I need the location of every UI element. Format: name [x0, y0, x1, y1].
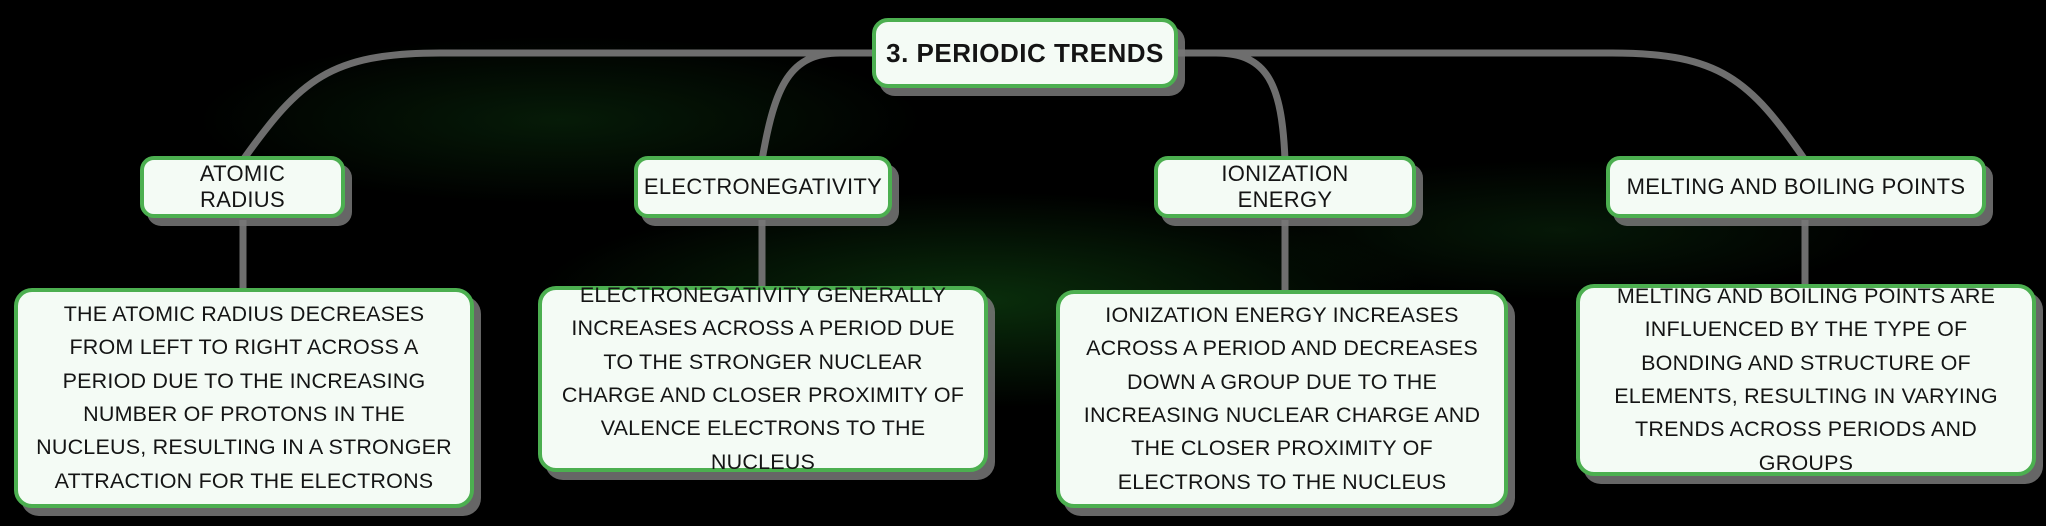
node-branch-atomic-radius-label: ATOMIC RADIUS — [144, 161, 341, 213]
mindmap-canvas: 3. PERIODIC TRENDS ATOMIC RADIUS ELECTRO… — [0, 0, 2046, 526]
node-branch-melting-boiling-points[interactable]: MELTING AND BOILING POINTS — [1606, 156, 1986, 218]
node-description-melting-boiling-points-text: MELTING AND BOILING POINTS ARE INFLUENCE… — [1580, 280, 2032, 480]
node-description-atomic-radius-text: THE ATOMIC RADIUS DECREASES FROM LEFT TO… — [18, 298, 470, 498]
node-description-melting-boiling-points[interactable]: MELTING AND BOILING POINTS ARE INFLUENCE… — [1576, 284, 2036, 476]
node-branch-electronegativity-label: ELECTRONEGATIVITY — [628, 174, 898, 200]
node-branch-atomic-radius[interactable]: ATOMIC RADIUS — [140, 156, 345, 218]
connector-root-to-melting-boiling — [1178, 53, 1805, 160]
node-description-electronegativity-text: ELECTRONEGATIVITY GENERALLY INCREASES AC… — [542, 279, 984, 479]
connector-root-to-ionization-energy — [1178, 53, 1285, 160]
node-description-ionization-energy-text: IONIZATION ENERGY INCREASES ACROSS A PER… — [1060, 299, 1504, 499]
node-branch-melting-boiling-points-label: MELTING AND BOILING POINTS — [1611, 174, 1982, 200]
node-branch-electronegativity[interactable]: ELECTRONEGATIVITY — [634, 156, 892, 218]
node-description-ionization-energy[interactable]: IONIZATION ENERGY INCREASES ACROSS A PER… — [1056, 290, 1508, 508]
connector-root-to-electronegativity — [762, 53, 872, 160]
node-branch-ionization-energy-label: IONIZATION ENERGY — [1158, 161, 1412, 213]
node-root-label: 3. PERIODIC TRENDS — [886, 38, 1164, 69]
node-description-atomic-radius[interactable]: THE ATOMIC RADIUS DECREASES FROM LEFT TO… — [14, 288, 474, 508]
node-description-electronegativity[interactable]: ELECTRONEGATIVITY GENERALLY INCREASES AC… — [538, 286, 988, 472]
connector-root-to-atomic-radius — [243, 53, 872, 160]
node-branch-ionization-energy[interactable]: IONIZATION ENERGY — [1154, 156, 1416, 218]
node-root-periodic-trends[interactable]: 3. PERIODIC TRENDS — [872, 18, 1178, 88]
